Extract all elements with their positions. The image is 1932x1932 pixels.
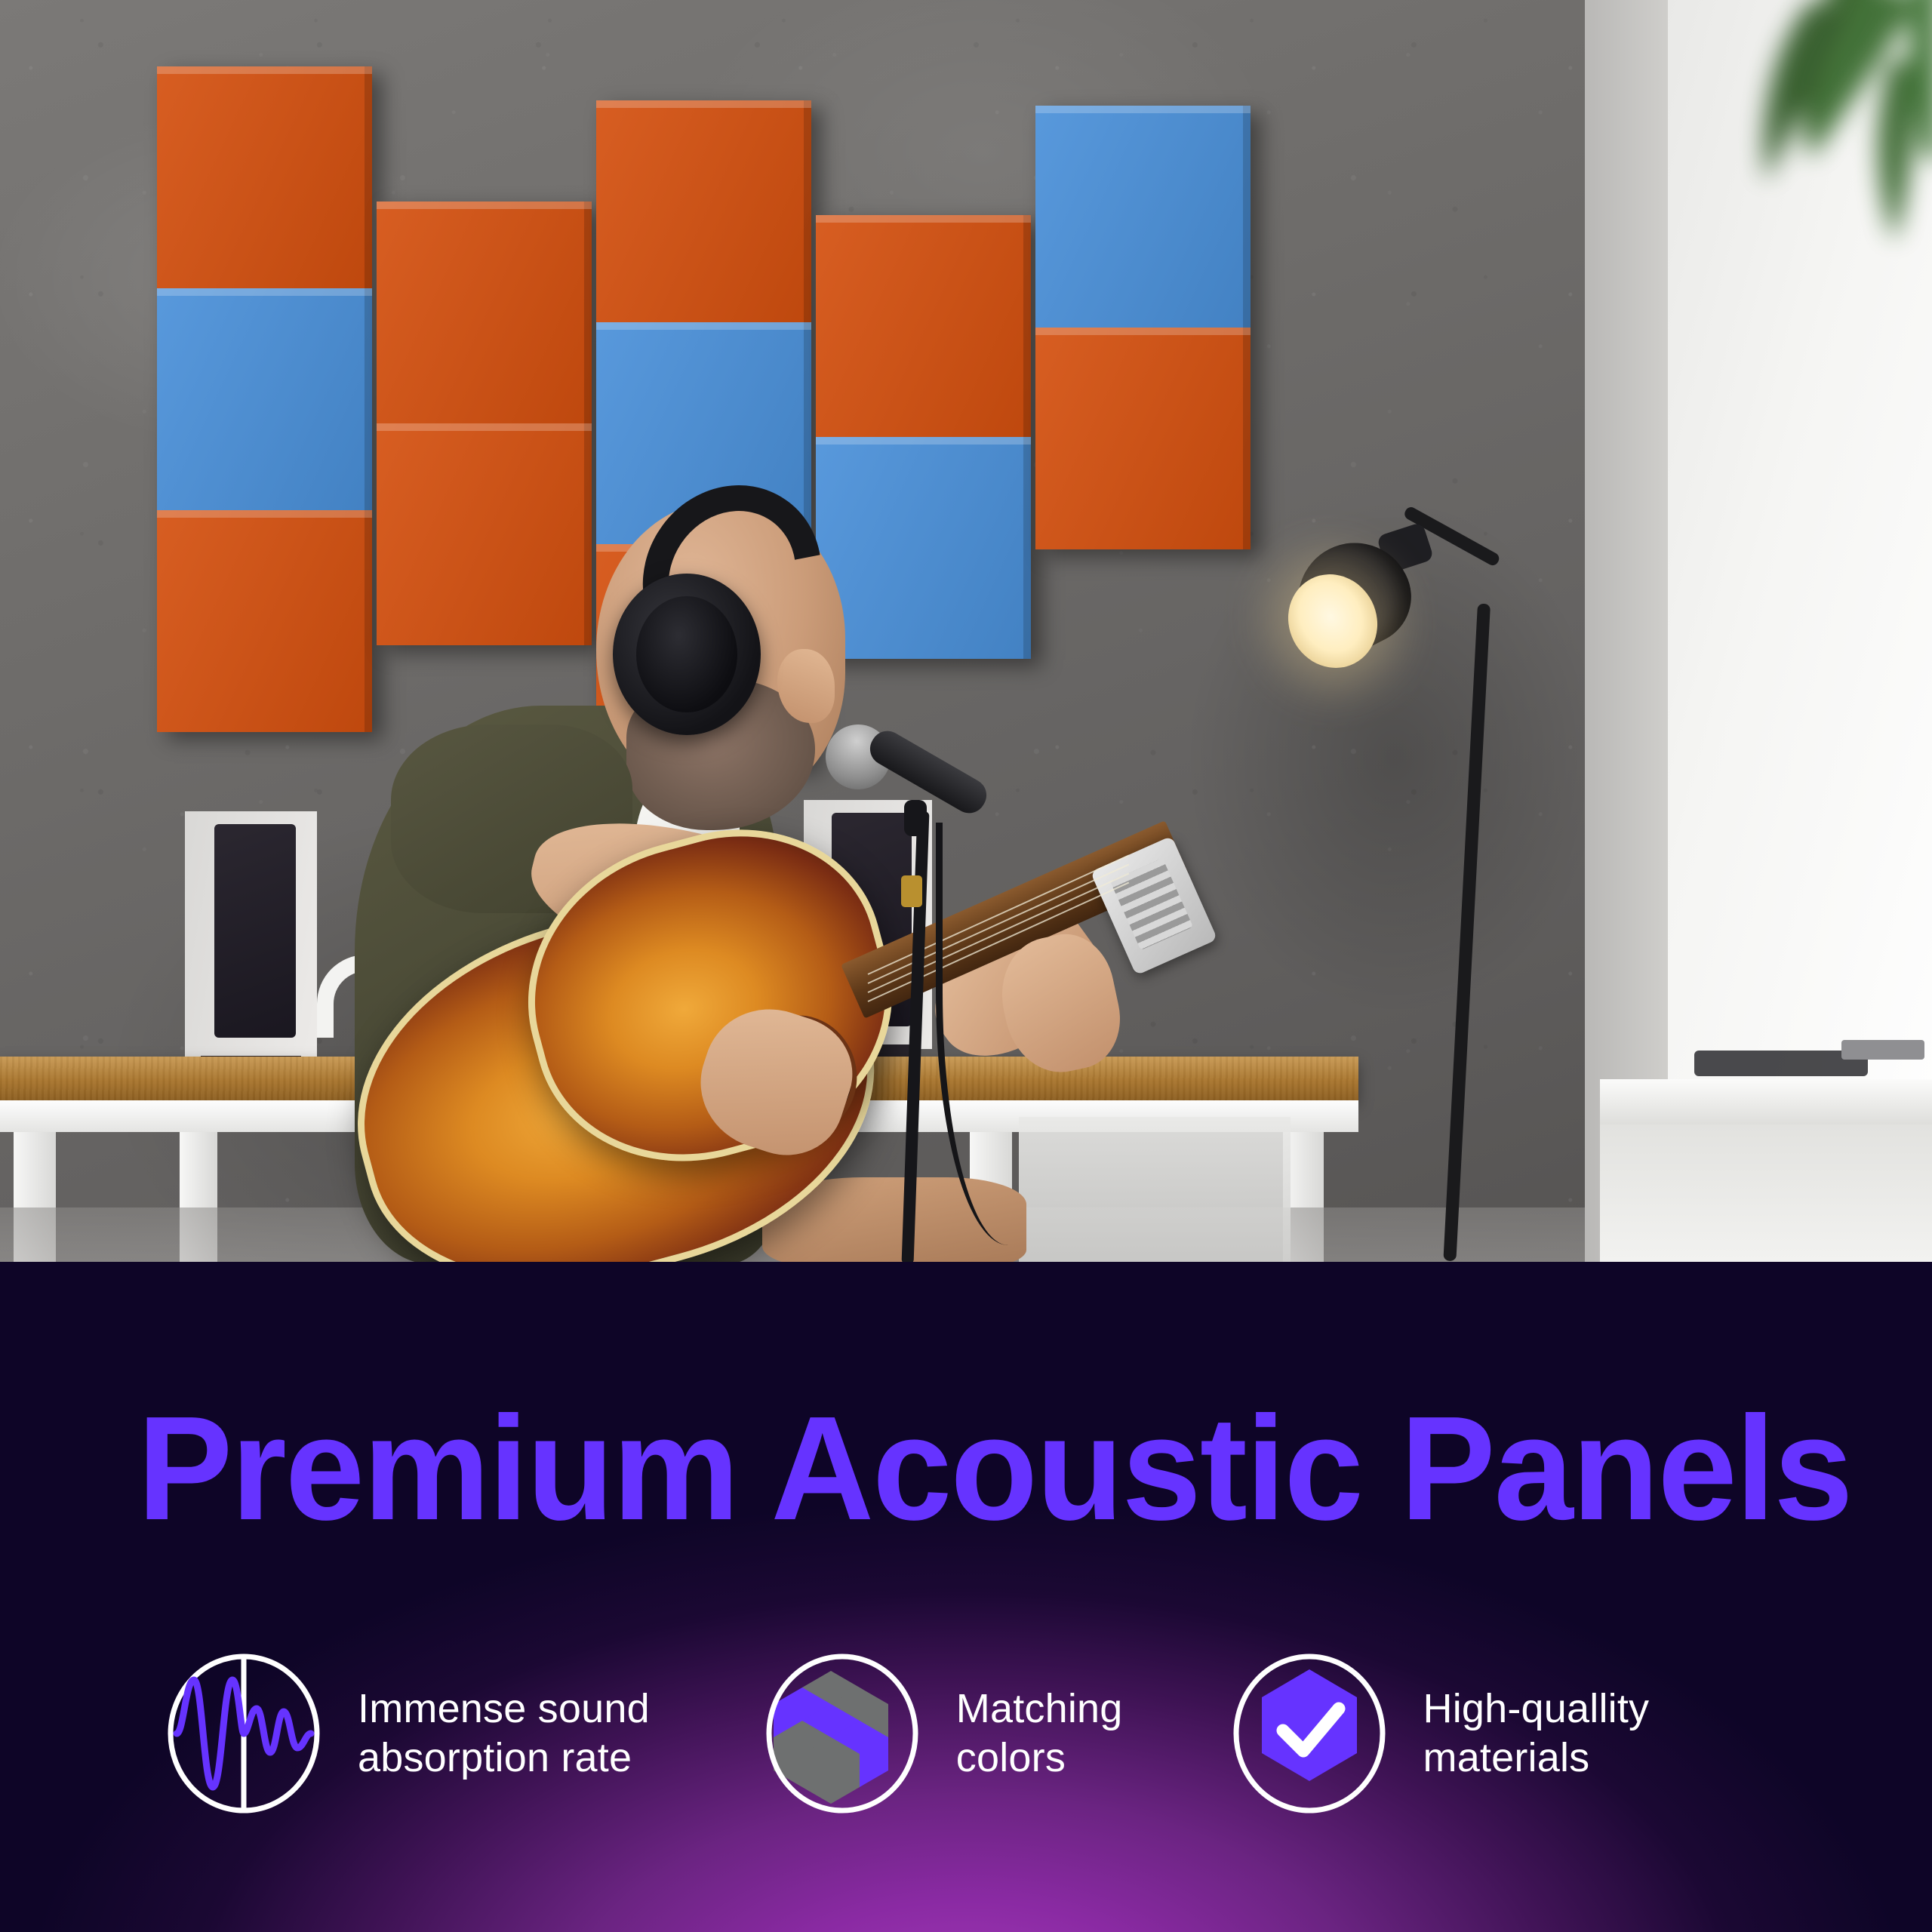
window-latch (1841, 1040, 1924, 1060)
acoustic-panel (816, 215, 1031, 437)
acoustic-panel (596, 100, 811, 322)
window-sill (1600, 1079, 1932, 1124)
acoustic-panel (816, 437, 1031, 659)
acoustic-panel (1035, 328, 1251, 549)
acoustic-panel (1035, 106, 1251, 328)
acoustic-panel (157, 288, 372, 510)
acoustic-panel-column-4 (816, 215, 1031, 659)
plant-leaves (1623, 0, 1932, 325)
desk-panel (1019, 1117, 1291, 1262)
acoustic-panel-column-1 (157, 66, 372, 732)
acoustic-panel (377, 423, 592, 645)
poster-canvas: Premium Acoustic Panels Immense sound ab… (0, 0, 1932, 1932)
headphones-earcup (613, 574, 761, 735)
microphone-clip (904, 800, 927, 836)
acoustic-panel (377, 202, 592, 423)
acoustic-panel (157, 66, 372, 288)
window-lower-wall (1600, 1124, 1932, 1262)
acoustic-panel-column-5 (1035, 106, 1251, 549)
banner-content (0, 1262, 1932, 1932)
studio-monitor-left (185, 811, 317, 1060)
microphone-stand-collar (901, 875, 922, 907)
speaker-driver (214, 824, 297, 1038)
acoustic-panel-column-2 (377, 202, 592, 645)
marketing-banner (0, 1262, 1932, 1932)
acoustic-panel (157, 510, 372, 732)
studio-photo (0, 0, 1932, 1262)
